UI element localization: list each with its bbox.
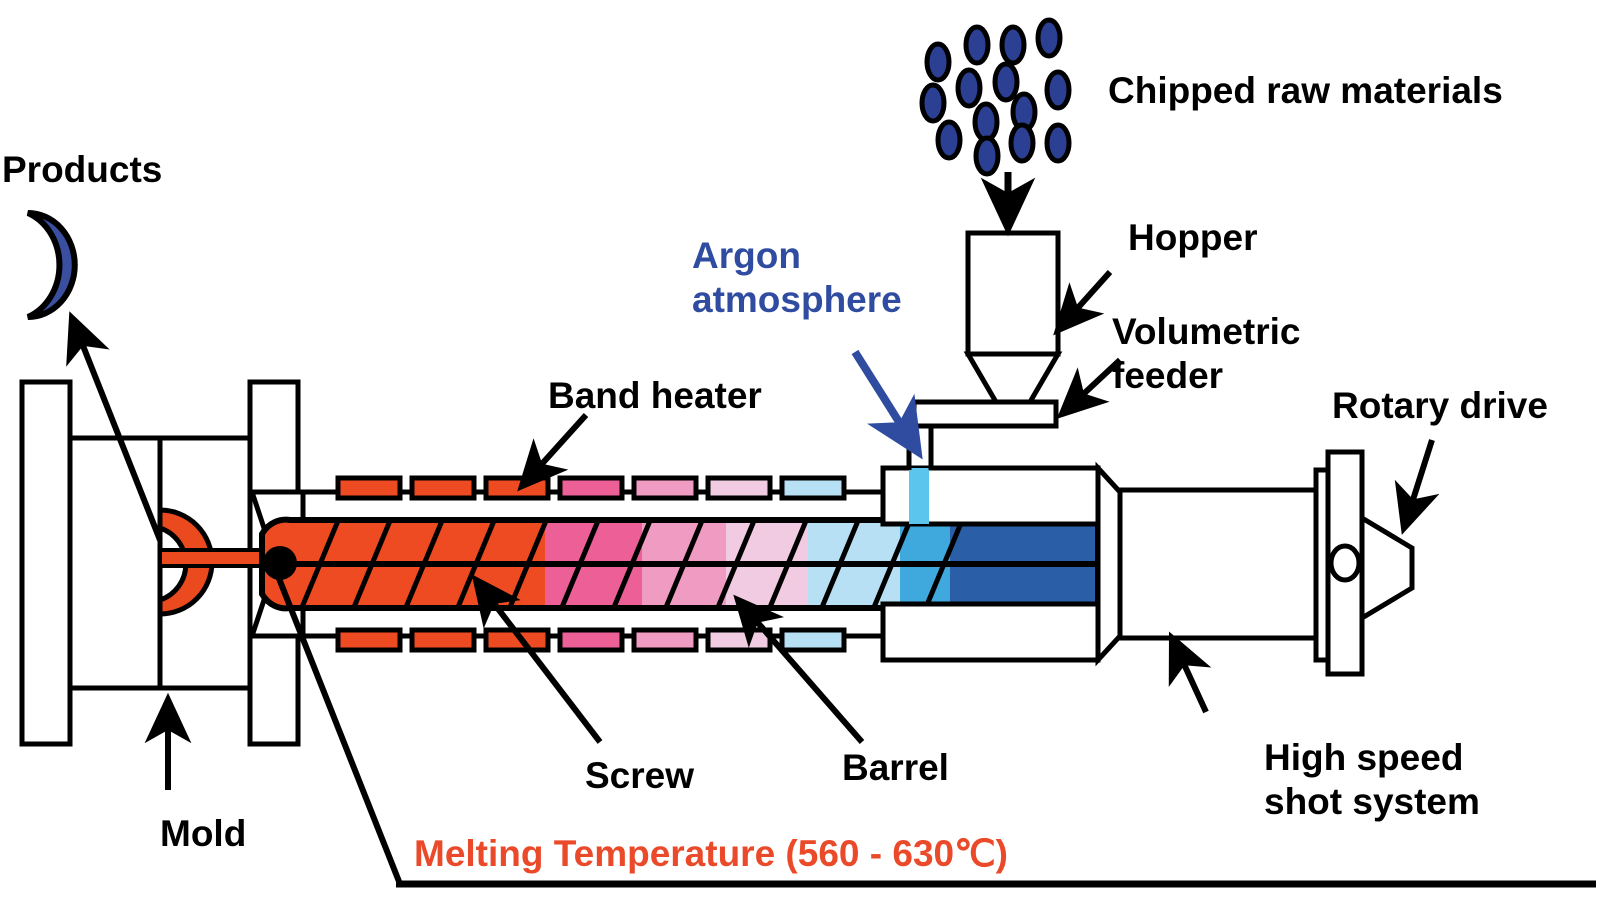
band-heater [782,478,844,498]
chipped-raw-material-pellets [922,20,1069,174]
band-heater [634,478,696,498]
label-products: Products [2,149,162,190]
label-band-heater: Band heater [548,375,762,416]
label-rotary-drive: Rotary drive [1332,385,1548,426]
band-heater [338,630,400,650]
label-volumetric-feeder-line2: feeder [1112,355,1223,396]
label-volumetric-feeder-line1: Volumetric [1112,311,1300,352]
feed-chamber-lower [883,604,1098,660]
pellet [975,104,997,140]
pellet [927,44,949,80]
label-high-speed-line2: shot system [1264,781,1480,822]
band-heater [338,478,400,498]
band-heater [560,630,622,650]
pellet [995,64,1017,100]
drive-shaft-ellipse [1331,546,1359,580]
diagram-canvas: Products Mold Band heater Screw Barrel A… [0,0,1600,913]
argon-inlet-tube [909,468,929,524]
label-barrel: Barrel [842,747,949,788]
chamber-end-bevel [1098,468,1120,660]
leader-band-heater [522,415,586,486]
pellet [966,27,988,63]
pellet [958,70,980,106]
label-melting-temperature: Melting Temperature (560 - 630℃) [414,833,1008,874]
label-chipped-raw-materials: Chipped raw materials [1108,70,1503,111]
label-mold: Mold [160,813,246,854]
label-screw: Screw [585,755,694,796]
screw-assembly [255,516,1100,612]
hopper-body [968,233,1058,354]
sprue-channel [160,550,276,566]
band-heater-row-upper [338,478,844,498]
pellet [922,85,944,121]
pellet [1047,72,1069,108]
label-high-speed-line1: High speed [1264,737,1463,778]
shot-cylinder [1120,490,1320,638]
mold-half-left [70,438,160,688]
band-heater [412,630,474,650]
leader-hopper [1058,272,1110,330]
band-heater [708,478,770,498]
pellet [976,138,998,174]
band-heater [634,630,696,650]
volumetric-feeder-bar [914,402,1056,426]
leader-rotary [1404,440,1432,528]
leader-shot-system [1172,638,1206,712]
pellet [1047,125,1069,161]
label-argon-line2: atmosphere [692,279,902,320]
band-heater [486,478,548,498]
pellet [1002,27,1024,63]
mold-platen-left [22,382,70,744]
hopper-assembly [914,233,1058,426]
pellet [1011,125,1033,161]
product-crescent [28,213,75,317]
process-schematic: Products Mold Band heater Screw Barrel A… [0,0,1600,913]
pellet [1038,20,1060,56]
hopper-funnel [968,354,1058,402]
leader-argon [855,352,918,452]
high-speed-shot-system [1120,452,1412,674]
band-heater [708,630,770,650]
band-heater [782,630,844,650]
band-heater [412,478,474,498]
pellet [938,122,960,158]
injection-gate-dot [263,546,297,580]
label-hopper: Hopper [1128,217,1258,258]
rotary-drive-cone [1362,518,1412,618]
screw-thermal-zones [255,516,1100,612]
band-heater [560,478,622,498]
label-argon-line1: Argon [692,235,801,276]
